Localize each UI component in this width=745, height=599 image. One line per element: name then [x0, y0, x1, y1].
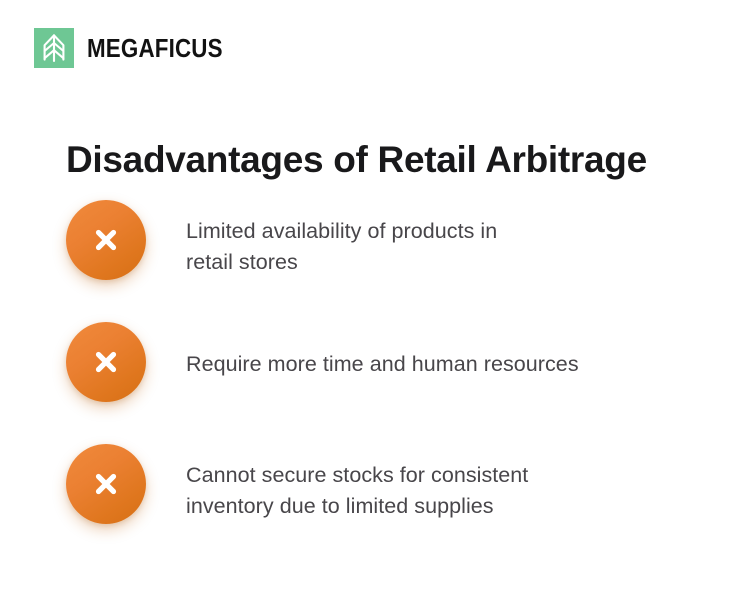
slide-canvas: MEGAFICUS Disadvantages of Retail Arbitr… [0, 0, 745, 599]
cross-icon [66, 200, 146, 280]
list-item: Require more time and human resources [66, 322, 716, 422]
brand-wordmark: MEGAFICUS [87, 35, 223, 61]
list-item-label: Require more time and human resources [146, 322, 716, 380]
disadvantages-list: Limited availability of products in reta… [66, 200, 716, 544]
list-item-label: Cannot secure stocks for consistent inve… [146, 444, 716, 521]
brand-logo: MEGAFICUS [34, 28, 245, 68]
list-item: Limited availability of products in reta… [66, 200, 716, 300]
ficus-tree-icon [34, 28, 74, 68]
cross-icon [66, 444, 146, 524]
page-title: Disadvantages of Retail Arbitrage [66, 138, 726, 182]
cross-icon [66, 322, 146, 402]
list-item: Cannot secure stocks for consistent inve… [66, 444, 716, 544]
list-item-label: Limited availability of products in reta… [146, 200, 716, 277]
